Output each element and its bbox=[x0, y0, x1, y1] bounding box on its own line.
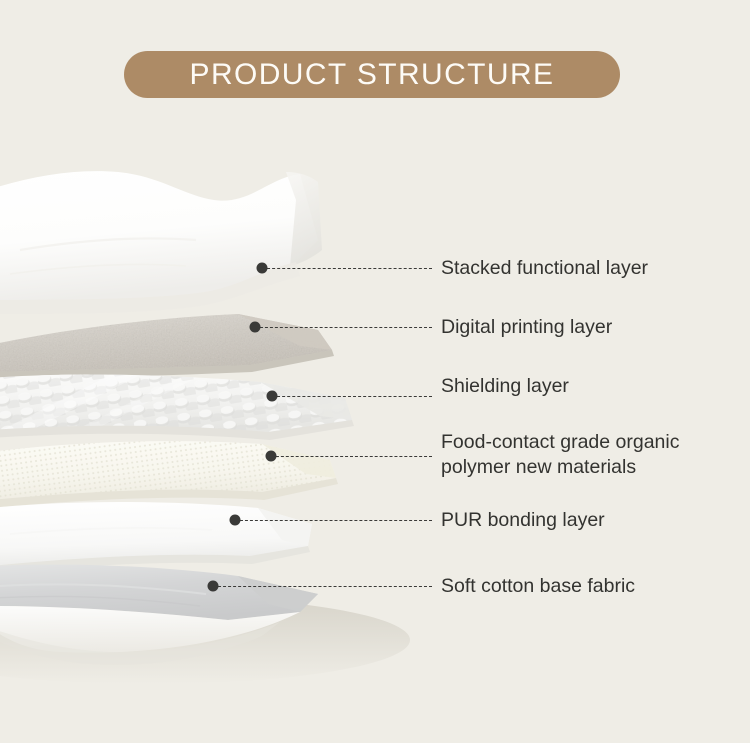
leader-dot-3 bbox=[267, 391, 278, 402]
layer-soft-cotton-base bbox=[0, 564, 318, 664]
leader-line-1 bbox=[262, 268, 432, 269]
leader-line-5 bbox=[235, 520, 432, 521]
layer-food-contact-polymer bbox=[0, 432, 350, 508]
label-pur-bonding-layer: PUR bonding layer bbox=[441, 508, 605, 533]
leader-line-6 bbox=[213, 586, 432, 587]
label-digital-printing-layer: Digital printing layer bbox=[441, 315, 612, 340]
label-stacked-functional-layer: Stacked functional layer bbox=[441, 256, 648, 281]
leader-line-3 bbox=[272, 396, 432, 397]
layer-pur-bonding bbox=[0, 502, 312, 574]
leader-line-2 bbox=[255, 327, 432, 328]
leader-dot-4 bbox=[266, 451, 277, 462]
label-soft-cotton-base-fabric: Soft cotton base fabric bbox=[441, 574, 635, 599]
layer-digital-printing bbox=[0, 300, 350, 390]
layer-stack-illustration bbox=[0, 0, 750, 743]
product-structure-diagram: Stacked functional layer Digital printin… bbox=[0, 0, 750, 743]
page-title: PRODUCT STRUCTURE bbox=[190, 60, 555, 90]
label-shielding-layer: Shielding layer bbox=[441, 374, 569, 399]
leader-line-4 bbox=[271, 456, 432, 457]
label-food-contact-polymer: Food-contact grade organic polymer new m… bbox=[441, 430, 679, 480]
layer-stacked-functional bbox=[0, 171, 322, 314]
layer-shielding bbox=[0, 368, 370, 440]
leader-dot-6 bbox=[208, 581, 219, 592]
leader-dot-5 bbox=[230, 515, 241, 526]
leader-dot-1 bbox=[257, 263, 268, 274]
leader-dot-2 bbox=[250, 322, 261, 333]
page-title-banner: PRODUCT STRUCTURE bbox=[124, 51, 620, 98]
